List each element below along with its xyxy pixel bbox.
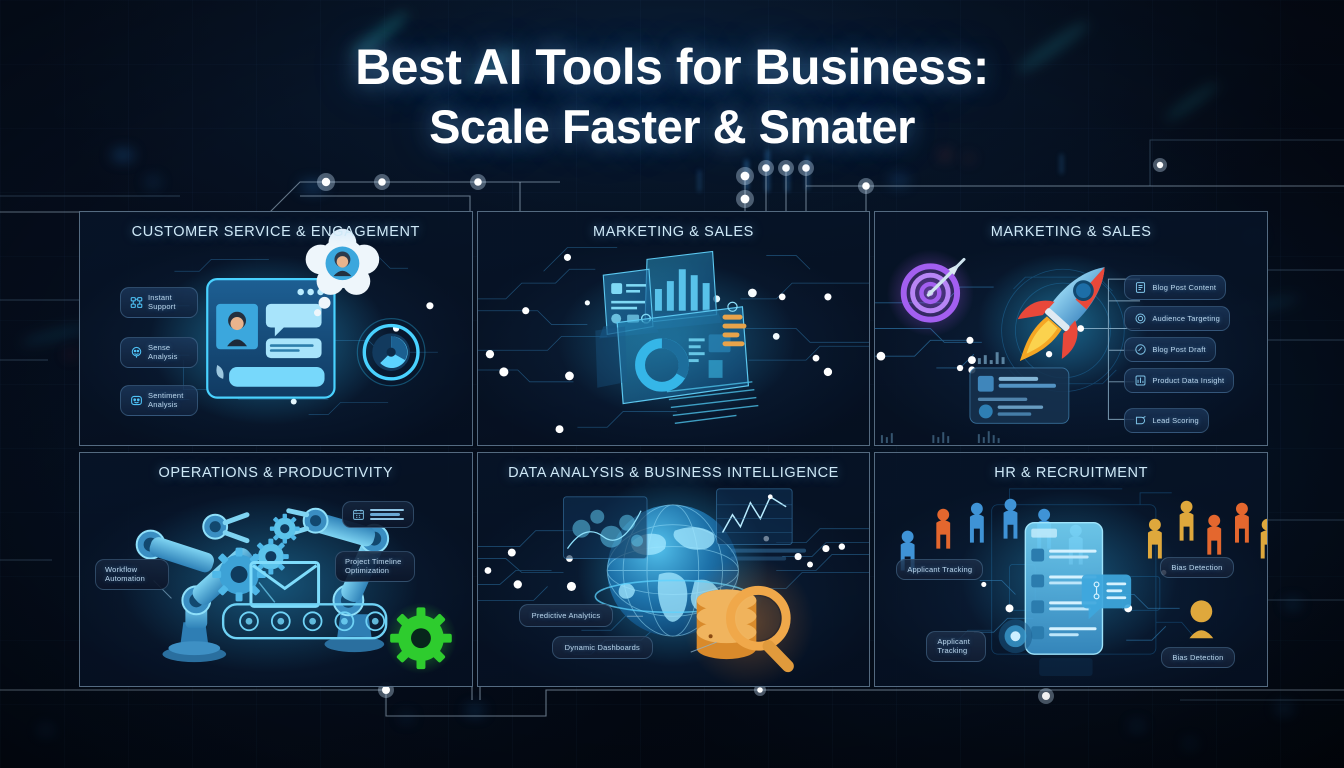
panel-operations-productivity[interactable]: OPERATIONS & PRODUCTIVITY bbox=[79, 452, 473, 687]
chip-label: Lead Scoring bbox=[1152, 416, 1199, 425]
edit-icon bbox=[1134, 343, 1147, 356]
panel-customer-service[interactable]: CUSTOMER SERVICE & ENGAGEMENT bbox=[79, 211, 473, 446]
sentiment-face-icon bbox=[130, 346, 143, 359]
chip-predictive-analytics[interactable]: Predictive Analytics bbox=[519, 604, 614, 627]
chip-product-data-insight[interactable]: Product Data Insight bbox=[1124, 368, 1234, 393]
panel-title-marketing-sales-rocket: MARKETING & SALES bbox=[875, 224, 1267, 240]
target-icon bbox=[1134, 312, 1147, 325]
chip-label: Predictive Analytics bbox=[532, 611, 601, 620]
chip-label: Blog Post Content bbox=[1152, 283, 1216, 292]
chip-instant-support[interactable]: Instant Support bbox=[120, 287, 198, 318]
chip-dynamic-dashboards[interactable]: Dynamic Dashboards bbox=[552, 636, 653, 659]
panel-title-marketing-sales-dashboard: MARKETING & SALES bbox=[478, 224, 870, 240]
page-title: Best AI Tools for Business: Scale Faster… bbox=[0, 42, 1344, 150]
title-line-1: Best AI Tools for Business: bbox=[0, 42, 1344, 92]
data-analysis-artwork bbox=[478, 453, 870, 686]
panel-hr-recruitment[interactable]: HR & RECRUITMENT bbox=[874, 452, 1268, 687]
chip-applicant-tracking-top[interactable]: Applicant Tracking bbox=[896, 559, 983, 580]
chip-bias-detection-top[interactable]: Bias Detection bbox=[1160, 557, 1233, 578]
chip-label: Bias Detection bbox=[1172, 653, 1223, 662]
panel-title-operations-productivity: OPERATIONS & PRODUCTIVITY bbox=[80, 465, 472, 481]
chip-label: Blog Post Draft bbox=[1152, 345, 1205, 354]
chip-blog-post-content[interactable]: Blog Post Content bbox=[1124, 275, 1226, 300]
chip-label: Dynamic Dashboards bbox=[565, 643, 640, 652]
panel-data-analysis-bi[interactable]: DATA ANALYSIS & BUSINESS INTELLIGENCE bbox=[477, 452, 871, 687]
chip-label: Bias Detection bbox=[1171, 563, 1222, 572]
chip-label: Applicant Tracking bbox=[937, 637, 975, 656]
panel-title-data-analysis-bi: DATA ANALYSIS & BUSINESS INTELLIGENCE bbox=[478, 465, 870, 481]
marketing-dashboard-artwork bbox=[478, 212, 870, 445]
chart-icon bbox=[1134, 374, 1147, 387]
infographic-canvas: Best AI Tools for Business: Scale Faster… bbox=[0, 0, 1344, 768]
document-icon bbox=[1134, 281, 1147, 294]
score-icon bbox=[1134, 414, 1147, 427]
chip-lead-scoring[interactable]: Lead Scoring bbox=[1124, 408, 1209, 433]
chip-sentiment-analysis[interactable]: Sentiment Analysis bbox=[120, 385, 198, 416]
panel-title-customer-service: CUSTOMER SERVICE & ENGAGEMENT bbox=[80, 224, 472, 240]
chip-label: Workflow Automation bbox=[105, 565, 159, 584]
chip-sense-analysis[interactable]: Sense Analysis bbox=[120, 337, 198, 368]
chip-label: Project Timeline Optimization bbox=[345, 557, 405, 576]
chip-blog-post-draft[interactable]: Blog Post Draft bbox=[1124, 337, 1215, 362]
chip-label: Product Data Insight bbox=[1152, 376, 1224, 385]
chip-label: Sense Analysis bbox=[148, 343, 188, 362]
emoji-icon bbox=[130, 394, 143, 407]
chip-audience-targeting[interactable]: Audience Targeting bbox=[1124, 306, 1230, 331]
chip-bias-detection-bottom[interactable]: Bias Detection bbox=[1161, 647, 1234, 668]
chip-project-timeline-optimization[interactable]: Project Timeline Optimization bbox=[335, 551, 415, 582]
chat-nodes-icon bbox=[130, 296, 143, 309]
chip-label: Sentiment Analysis bbox=[148, 391, 188, 410]
chip-calendar-schedule[interactable] bbox=[342, 501, 414, 528]
chip-label: Audience Targeting bbox=[1152, 314, 1220, 323]
calendar-icon bbox=[352, 508, 365, 521]
panel-grid: CUSTOMER SERVICE & ENGAGEMENT bbox=[79, 211, 1268, 687]
panel-title-hr-recruitment: HR & RECRUITMENT bbox=[875, 465, 1267, 481]
chip-label: Instant Support bbox=[148, 293, 188, 312]
chip-workflow-automation[interactable]: Workflow Automation bbox=[95, 559, 169, 590]
panel-marketing-sales-dashboard[interactable]: MARKETING & SALES bbox=[477, 211, 871, 446]
panel-marketing-sales-rocket[interactable]: MARKETING & SALES bbox=[874, 211, 1268, 446]
title-line-2: Scale Faster & Smater bbox=[0, 103, 1344, 150]
chip-applicant-tracking-bottom[interactable]: Applicant Tracking bbox=[926, 631, 986, 662]
chip-label: Applicant Tracking bbox=[907, 565, 972, 574]
